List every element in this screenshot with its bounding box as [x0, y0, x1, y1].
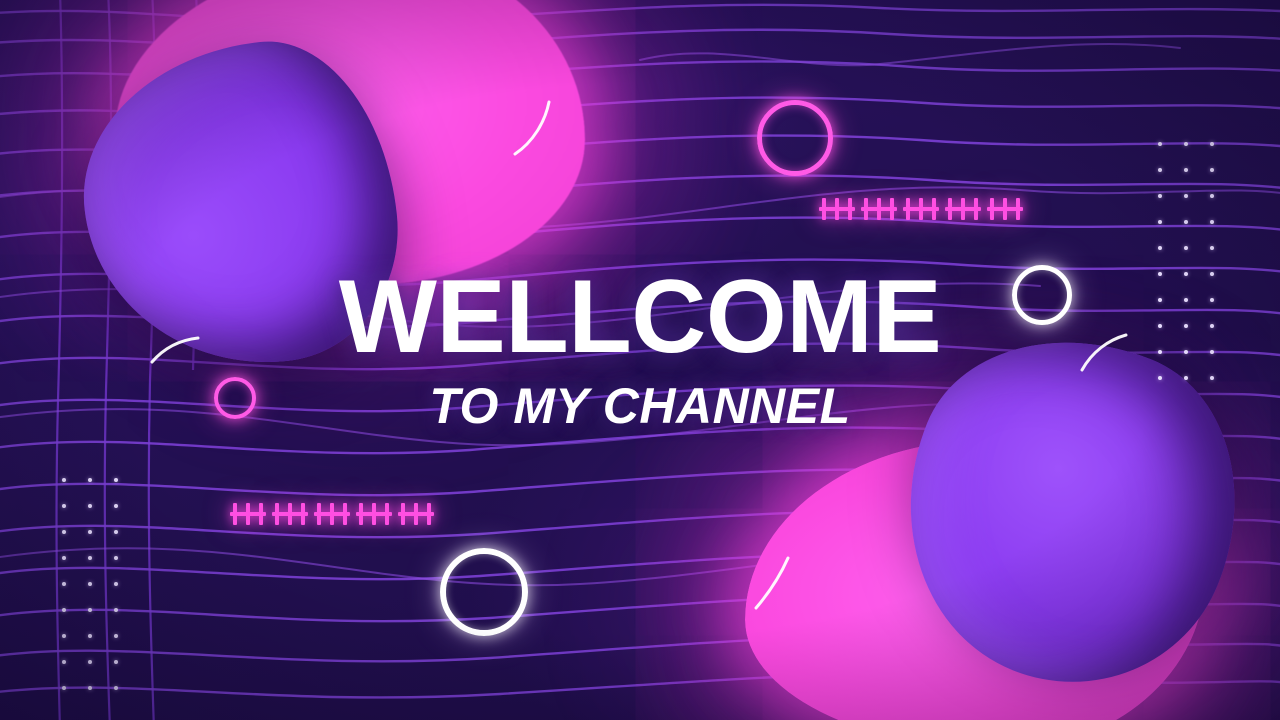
dot: [88, 556, 92, 560]
dot: [114, 530, 118, 534]
dot: [62, 478, 66, 482]
tally-tick: [414, 503, 418, 525]
dot: [114, 582, 118, 586]
dot: [88, 530, 92, 534]
tally-tick: [1016, 198, 1020, 220]
dot: [1184, 142, 1188, 146]
tally-tick: [427, 503, 431, 525]
dot: [1158, 168, 1162, 172]
tally-tick: [990, 198, 994, 220]
dot: [1210, 246, 1214, 250]
dot: [62, 556, 66, 560]
tally-group: [864, 198, 894, 220]
tally-tick: [288, 503, 292, 525]
dot: [114, 634, 118, 638]
tally-tick: [259, 503, 263, 525]
banner-canvas: WELLCOME TO MY CHANNEL: [0, 0, 1280, 720]
dot: [1158, 220, 1162, 224]
dot: [88, 582, 92, 586]
tally-group: [401, 503, 431, 525]
dot: [1210, 220, 1214, 224]
tally-tick: [233, 503, 237, 525]
tally-tick: [1003, 198, 1007, 220]
dot: [114, 478, 118, 482]
dot: [88, 686, 92, 690]
tally-tick: [932, 198, 936, 220]
tally-tick: [835, 198, 839, 220]
dot: [1184, 194, 1188, 198]
page-title: WELLCOME: [0, 268, 1280, 367]
dot: [1210, 142, 1214, 146]
tally-tick: [317, 503, 321, 525]
tally-tick: [961, 198, 965, 220]
dot: [114, 686, 118, 690]
tally-tick: [301, 503, 305, 525]
dot: [88, 634, 92, 638]
ring-pink-top-right-icon: [757, 100, 833, 176]
dot: [62, 582, 66, 586]
arc-bottom-center-icon: [748, 552, 798, 616]
tally-tick: [906, 198, 910, 220]
dot: [88, 660, 92, 664]
tally-tick: [385, 503, 389, 525]
tally-group: [822, 198, 852, 220]
tally-group: [948, 198, 978, 220]
dot: [62, 504, 66, 508]
tally-group: [990, 198, 1020, 220]
dot: [1184, 220, 1188, 224]
dot: [1210, 168, 1214, 172]
tally-tick: [246, 503, 250, 525]
tally-tick: [330, 503, 334, 525]
dot: [1184, 246, 1188, 250]
dot: [1184, 168, 1188, 172]
tally-group: [359, 503, 389, 525]
tally-group: [906, 198, 936, 220]
dot: [114, 660, 118, 664]
tally-tick: [974, 198, 978, 220]
tally-group: [275, 503, 305, 525]
dotgrid-bottom-left: [62, 478, 118, 690]
tally-tick: [848, 198, 852, 220]
tally-top-right-icon: [822, 198, 1020, 220]
dot: [114, 608, 118, 612]
dot: [1158, 142, 1162, 146]
tally-tick: [822, 198, 826, 220]
tally-tick: [948, 198, 952, 220]
page-subtitle: TO MY CHANNEL: [0, 381, 1280, 431]
tally-group: [317, 503, 347, 525]
tally-tick: [401, 503, 405, 525]
tally-tick: [359, 503, 363, 525]
tally-tick: [275, 503, 279, 525]
dot: [88, 608, 92, 612]
tally-tick: [343, 503, 347, 525]
dot: [62, 660, 66, 664]
ring-white-bottom-icon: [440, 548, 528, 636]
tally-tick: [877, 198, 881, 220]
dot: [1158, 246, 1162, 250]
tally-tick: [372, 503, 376, 525]
dot: [114, 504, 118, 508]
dot: [62, 608, 66, 612]
headline-block: WELLCOME TO MY CHANNEL: [0, 268, 1280, 431]
dot: [1210, 194, 1214, 198]
tally-bottom-left-icon: [233, 503, 431, 525]
tally-group: [233, 503, 263, 525]
dot: [88, 478, 92, 482]
arc-top-center-icon: [505, 96, 561, 162]
tally-tick: [890, 198, 894, 220]
dot: [62, 530, 66, 534]
dot: [62, 634, 66, 638]
dot: [62, 686, 66, 690]
dot: [114, 556, 118, 560]
tally-tick: [864, 198, 868, 220]
dot: [88, 504, 92, 508]
dot: [1158, 194, 1162, 198]
tally-tick: [919, 198, 923, 220]
